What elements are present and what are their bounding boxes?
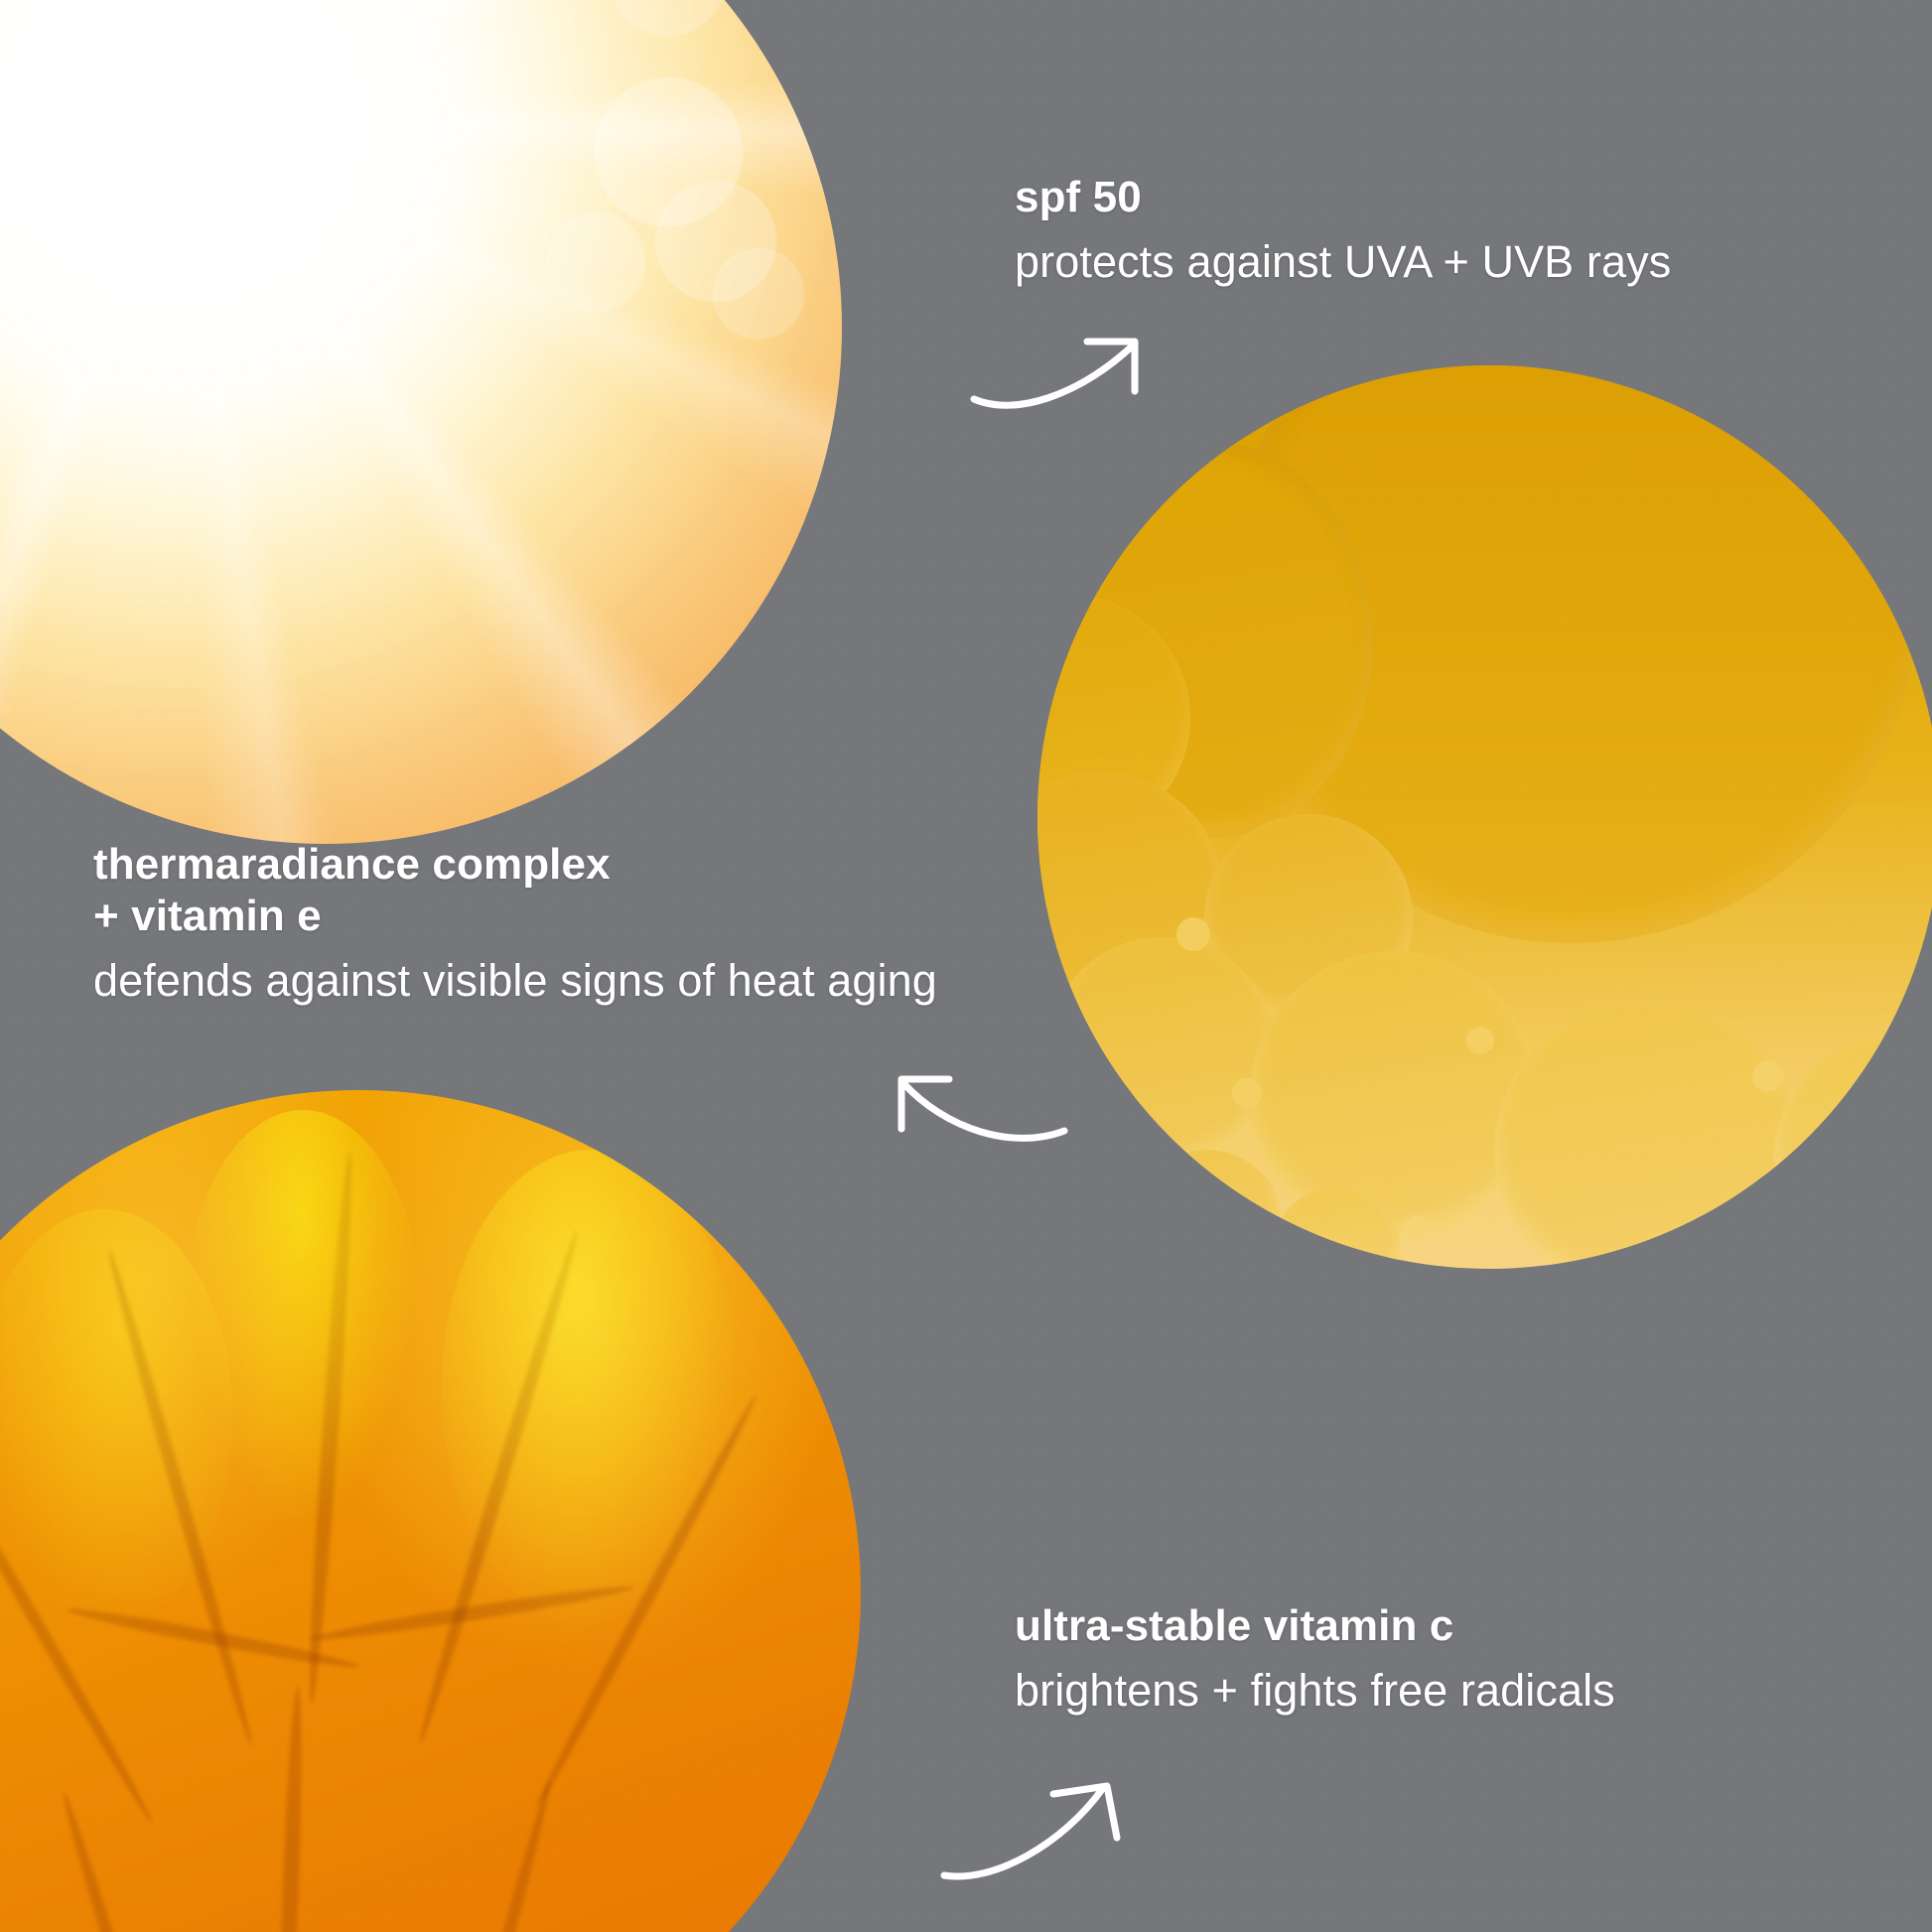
citrus-segment-photo [0, 1090, 861, 1932]
curved-arrow-up-right-icon [968, 318, 1157, 432]
benefit-vitamin-c-subtitle: brightens + fights free radicals [1015, 1664, 1615, 1718]
benefit-thermaradiance-title: thermaradiance complex + vitamin e [93, 839, 937, 942]
benefit-spf-subtitle: protects against UVA + UVB rays [1015, 235, 1671, 289]
benefit-thermaradiance-subtitle: defends against visible signs of heat ag… [93, 954, 937, 1008]
benefit-spf-title: spf 50 [1015, 172, 1671, 223]
curved-arrow-up-left-icon [874, 1047, 1072, 1157]
benefit-spf: spf 50 protects against UVA + UVB rays [1015, 172, 1671, 289]
oil-bubbles-photo [1037, 365, 1932, 1269]
curved-arrow-up-right-icon [938, 1772, 1137, 1896]
sun-burst-photo [0, 0, 842, 844]
infographic-canvas: spf 50 protects against UVA + UVB rays t… [0, 0, 1932, 1932]
benefit-vitamin-c: ultra-stable vitamin c brightens + fight… [1015, 1600, 1615, 1718]
benefit-thermaradiance: thermaradiance complex + vitamin e defen… [93, 839, 937, 1008]
benefit-vitamin-c-title: ultra-stable vitamin c [1015, 1600, 1615, 1652]
